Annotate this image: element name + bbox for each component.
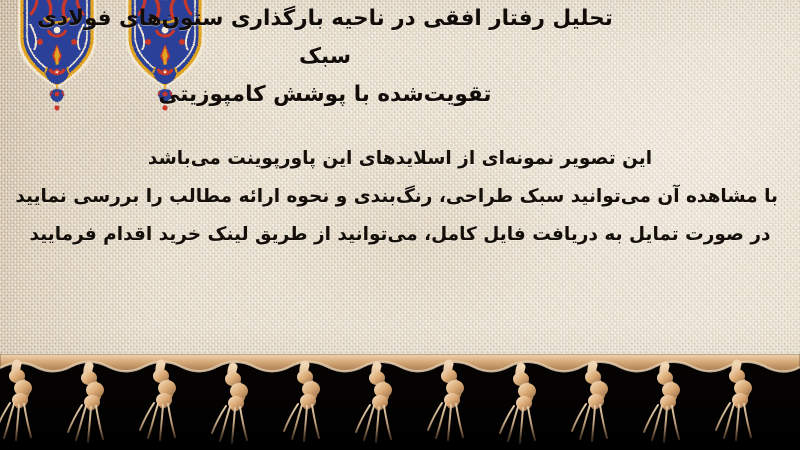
body-line-3: در صورت تمایل به دریافت فایل کامل، می‌تو… (22, 216, 778, 254)
title-line-1: تحلیل رفتار افقی در ناحیه بارگذاری ستون‌… (22, 0, 778, 76)
body-line-1: این تصویر نمونه‌ای از اسلایدهای این پاور… (22, 140, 778, 178)
page-title: تحلیل رفتار افقی در ناحیه بارگذاری ستون‌… (22, 0, 778, 114)
carpet-fringe-band (0, 354, 800, 450)
title-line-2: تقویت‌شده با پوشش کامپوزیتی (22, 76, 778, 114)
body-line-2: با مشاهده آن می‌توانید سبک طراحی، رنگ‌بن… (22, 178, 778, 216)
slide-canvas: تحلیل رفتار افقی در ناحیه بارگذاری ستون‌… (0, 0, 800, 450)
slide-text-block: تحلیل رفتار افقی در ناحیه بارگذاری ستون‌… (0, 0, 800, 254)
body-copy: این تصویر نمونه‌ای از اسلایدهای این پاور… (22, 140, 778, 254)
tassel-fringe-svg (0, 354, 800, 450)
